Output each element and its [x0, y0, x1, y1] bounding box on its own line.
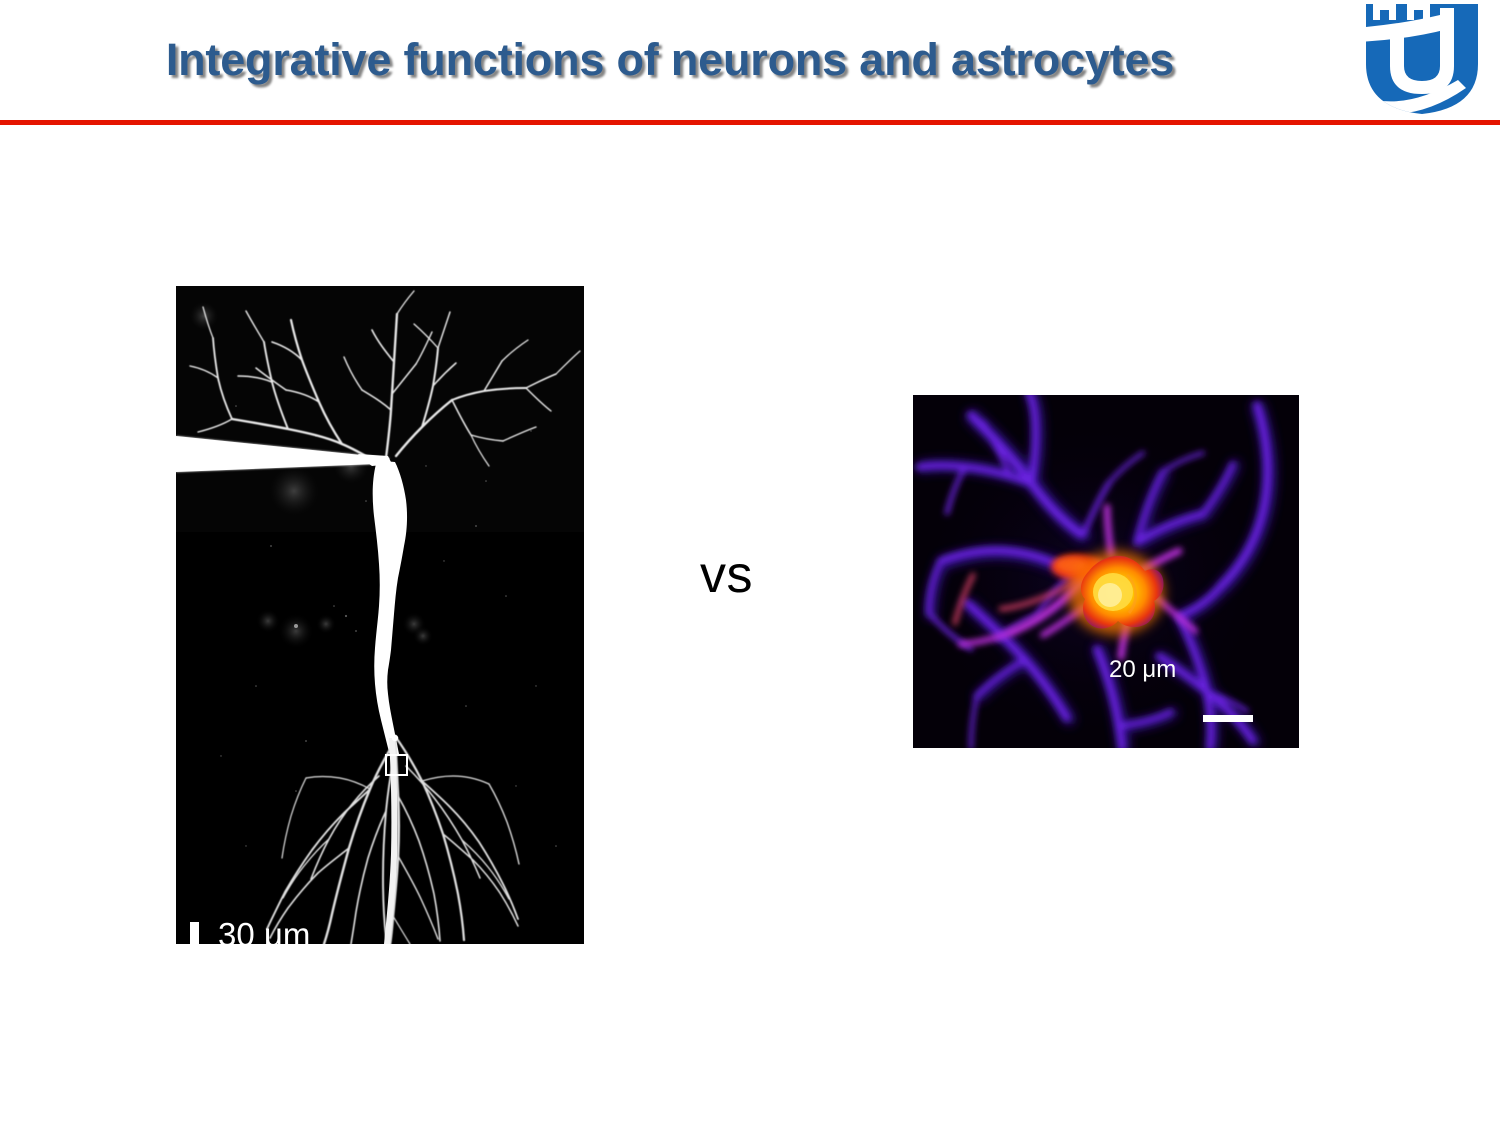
- astrocyte-scale-bar: [1203, 715, 1253, 722]
- dendritic-spine-roi-box: [385, 754, 408, 776]
- comparison-separator-label: vs: [700, 545, 753, 605]
- astrocyte-image-content: [913, 395, 1299, 748]
- astrocyte-scale-label: 20 μm: [1109, 656, 1176, 684]
- neuron-micrograph: 30 μm: [176, 286, 584, 944]
- astrocyte-micrograph: 20 μm: [913, 395, 1299, 748]
- hhu-logo: [1362, 2, 1482, 116]
- slide-header: Integrative functions of neurons and ast…: [0, 0, 1500, 124]
- page-title: Integrative functions of neurons and ast…: [0, 34, 1340, 86]
- slide-body: 30 μm vs: [0, 124, 1500, 1125]
- neuron-image-content: [176, 286, 584, 944]
- neuron-scale-bar: [190, 922, 199, 944]
- neuron-scale-label: 30 μm: [218, 916, 310, 944]
- hhu-logo-icon: [1362, 2, 1482, 116]
